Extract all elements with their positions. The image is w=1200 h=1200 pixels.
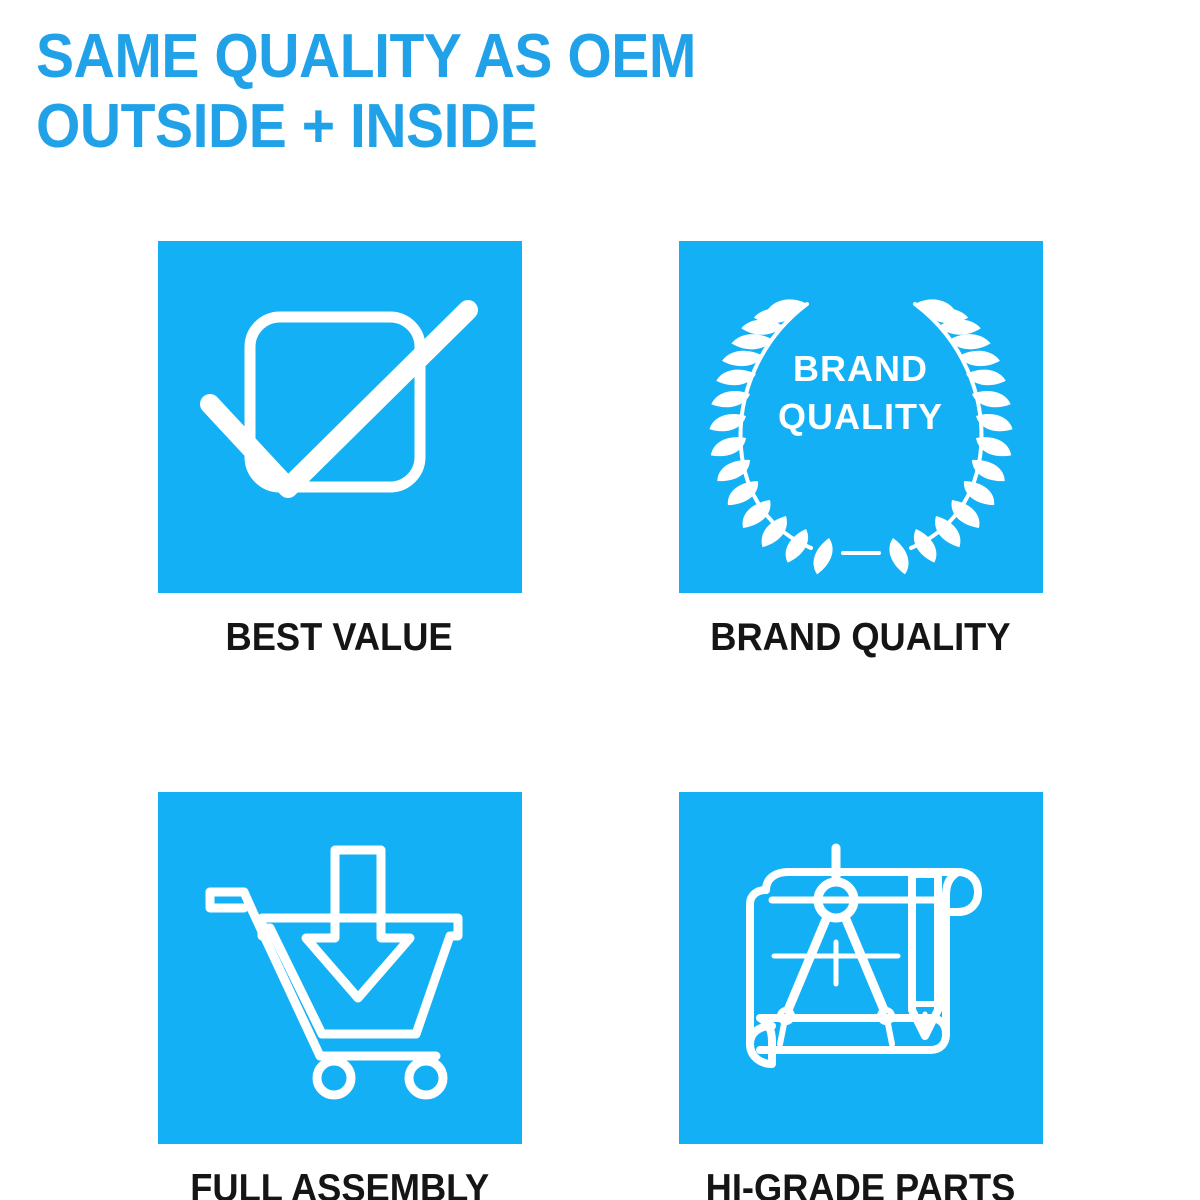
page-title: SAME QUALITY AS OEM OUTSIDE + INSIDE	[36, 26, 1156, 158]
feature-grid: BEST VALUE	[0, 241, 1200, 1200]
feature-brand-quality: BRAND QUALITY BRAND QUALITY	[679, 241, 1043, 659]
feature-row-bottom: FULL ASSEMBLY	[0, 792, 1200, 1200]
feature-hi-grade-parts: HI-GRADE PARTS	[679, 792, 1043, 1200]
feature-icon-tile	[158, 241, 522, 593]
feature-row-top: BEST VALUE	[0, 241, 1200, 659]
feature-icon-tile: BRAND QUALITY	[679, 241, 1043, 593]
promo-infographic: SAME QUALITY AS OEM OUTSIDE + INSIDE BES…	[0, 0, 1200, 1200]
blueprint-compass-pencil-icon	[726, 838, 996, 1098]
laurel-wreath-icon	[711, 272, 1011, 562]
feature-label: BRAND QUALITY	[710, 617, 1010, 659]
feature-full-assembly: FULL ASSEMBLY	[158, 792, 522, 1200]
feature-label: BEST VALUE	[226, 617, 453, 659]
headline-line-2: OUTSIDE + INSIDE	[36, 96, 1066, 158]
headline-line-1: SAME QUALITY AS OEM	[36, 26, 1066, 88]
feature-icon-tile	[158, 792, 522, 1144]
feature-label: FULL ASSEMBLY	[190, 1168, 489, 1200]
feature-icon-tile	[679, 792, 1043, 1144]
feature-label: HI-GRADE PARTS	[706, 1168, 1016, 1200]
checkbox-check-icon	[190, 292, 490, 542]
shopping-cart-download-icon	[200, 838, 480, 1098]
feature-best-value: BEST VALUE	[158, 241, 522, 659]
